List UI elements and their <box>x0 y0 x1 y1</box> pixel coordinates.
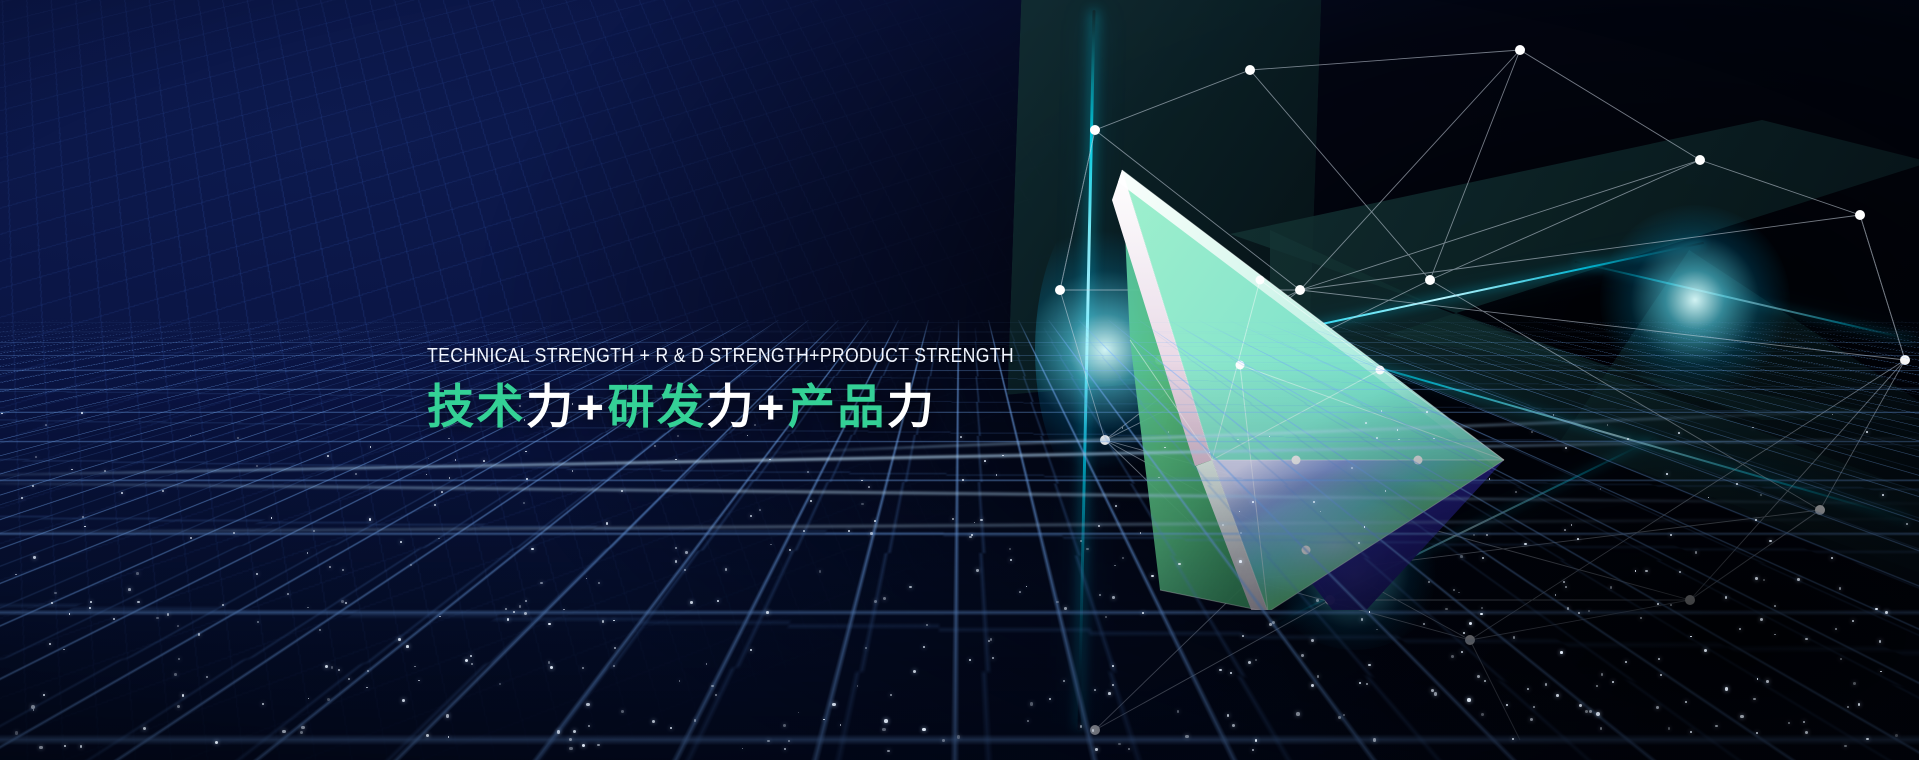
page-title: 技术力+研发力+产品力 <box>427 379 1087 434</box>
hero-copy: TECHNICAL STRENGTH + R & D STRENGTH+PROD… <box>427 345 1087 434</box>
headline-segment-0: 技术 <box>427 380 526 433</box>
headline-segment-6: 产品 <box>788 380 887 433</box>
headline-segment-3: 研发 <box>607 380 706 433</box>
headline-segment-5: + <box>757 380 787 433</box>
hero-banner: TECHNICAL STRENGTH + R & D STRENGTH+PROD… <box>0 0 1919 760</box>
headline-segment-2: + <box>577 380 607 433</box>
headline-segment-1: 力 <box>526 380 576 433</box>
hero-eyebrow: TECHNICAL STRENGTH + R & D STRENGTH+PROD… <box>427 345 995 368</box>
headline-segment-4: 力 <box>706 380 756 433</box>
headline-segment-7: 力 <box>887 380 937 433</box>
